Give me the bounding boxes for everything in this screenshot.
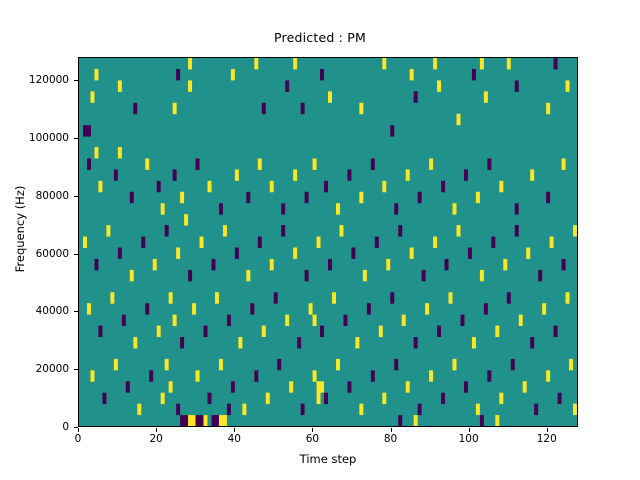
x-tick-mark <box>156 428 157 432</box>
y-tick-label: 60000 <box>36 248 69 260</box>
x-tick-label: 0 <box>75 433 82 445</box>
y-tick-label: 100000 <box>29 132 69 144</box>
x-tick-mark <box>78 428 79 432</box>
y-tick-mark <box>74 311 78 312</box>
heatmap-canvas <box>79 58 577 426</box>
y-tick-mark <box>74 80 78 81</box>
x-tick-mark <box>234 428 235 432</box>
chart-title: Predicted : PM <box>0 30 640 45</box>
y-tick-mark <box>74 254 78 255</box>
x-tick-label: 60 <box>306 433 319 445</box>
x-tick-mark <box>391 428 392 432</box>
x-tick-label: 120 <box>537 433 557 445</box>
y-axis-tick-labels: 020000400006000080000100000120000 <box>0 0 69 480</box>
y-tick-mark <box>74 369 78 370</box>
x-axis-label: Time step <box>78 452 578 466</box>
x-tick-mark <box>469 428 470 432</box>
x-tick-label: 20 <box>149 433 162 445</box>
y-tick-mark <box>74 196 78 197</box>
plot-area <box>78 57 578 427</box>
matplotlib-figure: Predicted : PM Frequency (Hz) 0200004000… <box>0 0 640 480</box>
y-tick-label: 120000 <box>29 74 69 86</box>
y-tick-label: 20000 <box>36 363 69 375</box>
y-tick-label: 40000 <box>36 305 69 317</box>
x-tick-mark <box>547 428 548 432</box>
x-tick-label: 40 <box>228 433 241 445</box>
x-tick-label: 80 <box>384 433 397 445</box>
y-tick-label: 0 <box>62 421 69 433</box>
y-tick-mark <box>74 138 78 139</box>
x-tick-label: 100 <box>459 433 479 445</box>
x-tick-mark <box>312 428 313 432</box>
y-tick-label: 80000 <box>36 190 69 202</box>
y-tick-mark <box>74 427 78 428</box>
